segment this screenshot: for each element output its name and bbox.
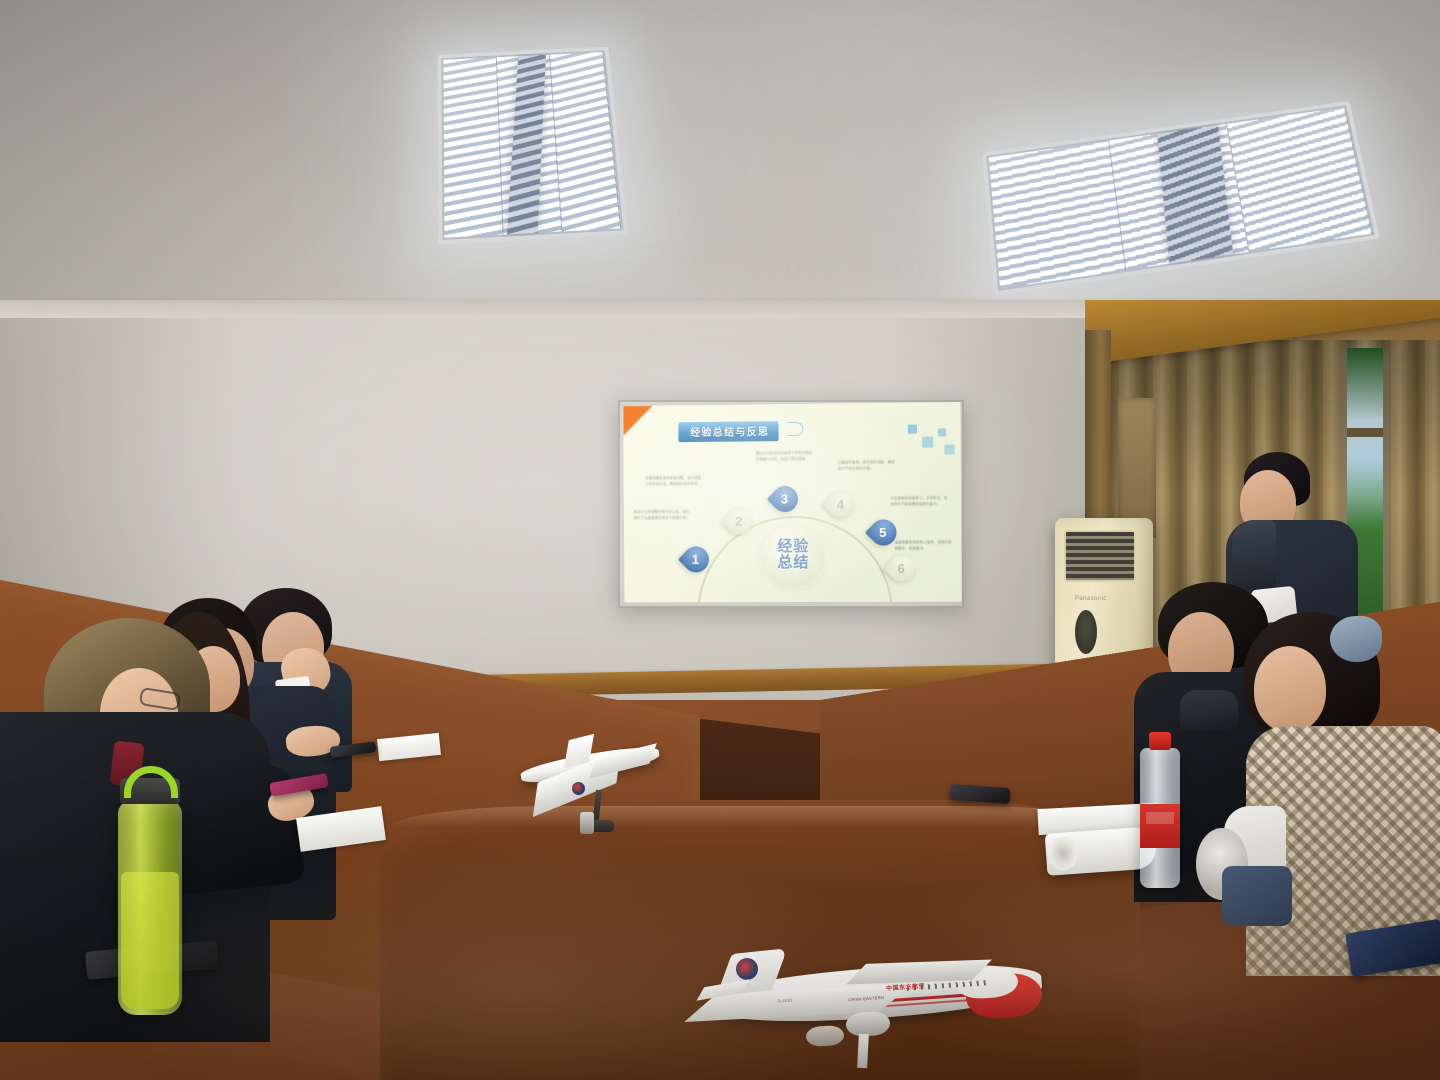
bubble-number: 5: [880, 525, 887, 540]
bottle-cap: [1149, 732, 1171, 750]
light-frame: [438, 47, 629, 245]
pixel-square-icon: [938, 428, 946, 436]
bottle-contents: [121, 872, 179, 1009]
slide-note: 感谢带教老师的悉心指导，使我们收获颇丰，受益匪浅。: [895, 539, 954, 552]
table-front-curve: [380, 800, 1140, 1080]
green-sport-water-bottle: [118, 800, 182, 1015]
plastic-water-bottle: [1140, 748, 1180, 888]
slide-note: 今后将继续加强学习，主动担当，在实践中不断积累经验提升能力。: [890, 495, 949, 508]
pixel-square-icon: [922, 437, 933, 448]
ac-brand-label: Panasonic: [1075, 596, 1107, 602]
ceiling-light-left: [438, 47, 629, 245]
slide-title-tail-icon: [787, 422, 803, 436]
center-label-line1: 经验: [777, 539, 809, 555]
hood: [1232, 520, 1276, 590]
ac-vent-grille: [1064, 530, 1136, 582]
conference-room-photo: 经验总结与反思 经验 总结 在对于工作流程中的不足之处，我们进行了认真梳理并提出…: [0, 0, 1440, 1080]
slide-note: 互相沟通交流中发现问题，及时调整工作方式方法，提高团队协作效率。: [645, 475, 702, 488]
slide-note: 通过本次实训活动加深了对专业知识的理解与应用，巩固了理论基础。: [756, 450, 814, 463]
table-edge-highlight: [390, 806, 1130, 828]
airline-logo-icon: [572, 782, 585, 795]
ac-control-panel: [1075, 610, 1097, 654]
slide-corner-accent-icon: [623, 406, 653, 436]
bubble-number: 3: [781, 492, 788, 507]
hair-clip: [1330, 616, 1382, 662]
bubble-number: 4: [837, 497, 844, 512]
bottle-label: [1140, 804, 1180, 848]
slide-center-label: 经验 总结: [762, 524, 824, 586]
slide-title: 经验总结与反思: [678, 421, 778, 442]
denim-sleeve: [1222, 866, 1292, 926]
pixel-square-icon: [944, 444, 954, 454]
aircraft-registration: B-6081: [778, 997, 793, 1003]
collar: [1180, 690, 1238, 730]
projection-screen: 经验总结与反思 经验 总结 在对于工作流程中的不足之处，我们进行了认真梳理并提出…: [623, 402, 962, 602]
wall-notice-board: [1118, 398, 1156, 538]
bubble-number: 1: [692, 552, 699, 567]
model-stand-post: [857, 1034, 869, 1068]
bubble-number: 6: [898, 561, 905, 576]
pixel-square-icon: [908, 425, 917, 434]
head: [1254, 646, 1326, 732]
slide-note: 注重细节管理，规范操作流程，确保各环节安全有序开展。: [838, 459, 896, 472]
model-stand-clip: [580, 812, 594, 834]
slide-note: 在对于工作流程中的不足之处，我们进行了认真梳理并提出了改进方向。: [634, 509, 691, 522]
airline-logo-icon: [736, 958, 758, 980]
bubble-number: 2: [736, 514, 743, 529]
center-label-line2: 总结: [777, 555, 809, 571]
